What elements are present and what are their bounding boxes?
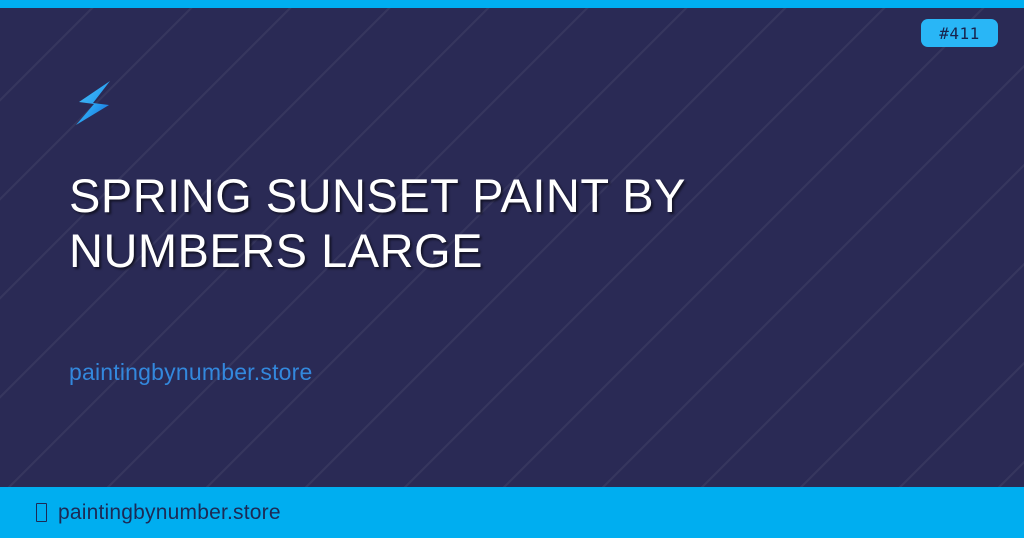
footer-bar: paintingbynumber.store <box>0 487 1024 538</box>
site-link[interactable]: paintingbynumber.store <box>69 359 313 386</box>
top-accent-bar <box>0 0 1024 8</box>
footer-site-label: paintingbynumber.store <box>58 501 281 525</box>
missing-glyph-box-icon <box>36 503 47 522</box>
index-badge-label: #411 <box>939 24 980 43</box>
lightning-bolt-icon <box>72 78 116 128</box>
index-badge: #411 <box>921 19 998 47</box>
promo-card: #411 SPRING SUNSET PAINT BY NUMBERS LARG… <box>0 0 1024 538</box>
page-title: SPRING SUNSET PAINT BY NUMBERS LARGE <box>69 168 789 278</box>
